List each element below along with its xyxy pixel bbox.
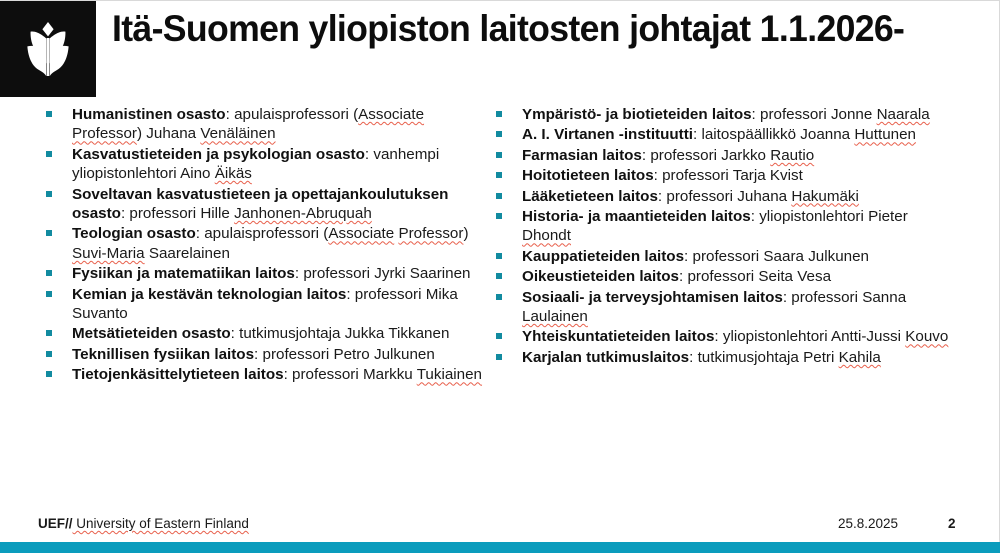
spellcheck-word: Associate bbox=[358, 106, 424, 123]
unit-name: Ympäristö- ja biotieteiden laitos bbox=[522, 106, 752, 123]
unit-name: Kauppatieteiden laitos bbox=[522, 248, 684, 265]
footer-page-number: 2 bbox=[948, 516, 956, 531]
bullet-square-icon bbox=[496, 213, 502, 219]
unit-director: : yliopistonlehtori Antti-Jussi Kouvo bbox=[714, 328, 948, 345]
spellcheck-word: Kahila bbox=[839, 349, 881, 366]
bullet-square-icon bbox=[46, 270, 52, 276]
bullet-square-icon bbox=[496, 294, 502, 300]
bullet-square-icon bbox=[496, 152, 502, 158]
list-item: Yhteiskuntatieteiden laitos: yliopistonl… bbox=[488, 327, 950, 346]
spellcheck-word: Professor bbox=[398, 225, 463, 242]
right-column: Ympäristö- ja biotieteiden laitos: profe… bbox=[488, 105, 950, 368]
unit-name: Teologian osasto bbox=[72, 225, 196, 242]
list-item: Fysiikan ja matematiikan laitos: profess… bbox=[38, 264, 490, 283]
bullet-square-icon bbox=[496, 253, 502, 259]
list-item: Teologian osasto: apulaisprofessori (Ass… bbox=[38, 224, 490, 263]
list-item: Metsätieteiden osasto: tutkimusjohtaja J… bbox=[38, 324, 490, 343]
list-item: Ympäristö- ja biotieteiden laitos: profe… bbox=[488, 105, 950, 124]
bullet-square-icon bbox=[46, 151, 52, 157]
unit-director: : professori Tarja Kvist bbox=[654, 167, 803, 184]
spellcheck-word: Hakumäki bbox=[791, 188, 859, 205]
bullet-square-icon bbox=[46, 371, 52, 377]
bullet-square-icon bbox=[496, 354, 502, 360]
unit-director: : professori Jyrki Saarinen bbox=[295, 265, 471, 282]
list-item: Oikeustieteiden laitos: professori Seita… bbox=[488, 267, 950, 286]
unit-name: Karjalan tutkimuslaitos bbox=[522, 349, 689, 366]
uef-logo-block bbox=[0, 1, 96, 97]
spellcheck-word: Associate bbox=[328, 225, 394, 242]
left-column: Humanistinen osasto: apulaisprofessori (… bbox=[38, 105, 490, 386]
spellcheck-word: Professor bbox=[72, 125, 137, 142]
unit-name: Kasvatustieteiden ja psykologian osasto bbox=[72, 146, 365, 163]
unit-name: Sosiaali- ja terveysjohtamisen laitos bbox=[522, 289, 783, 306]
unit-director: : tutkimusjohtaja Petri Kahila bbox=[689, 349, 881, 366]
list-item: Historia- ja maantieteiden laitos: yliop… bbox=[488, 207, 950, 246]
bullet-square-icon bbox=[46, 111, 52, 117]
uef-tree-book-logo-icon bbox=[24, 22, 72, 76]
bullet-square-icon bbox=[496, 333, 502, 339]
unit-name: Humanistinen osasto bbox=[72, 106, 226, 123]
unit-director: : tutkimusjohtaja Jukka Tikkanen bbox=[231, 325, 450, 342]
spellcheck-word: Dhondt bbox=[522, 227, 571, 244]
bullet-square-icon bbox=[496, 273, 502, 279]
bullet-square-icon bbox=[496, 131, 502, 137]
spellcheck-word: Naarala bbox=[877, 106, 930, 123]
list-item: Hoitotieteen laitos: professori Tarja Kv… bbox=[488, 166, 950, 185]
list-item: Sosiaali- ja terveysjohtamisen laitos: p… bbox=[488, 288, 950, 327]
bullet-square-icon bbox=[46, 230, 52, 236]
list-item: Tietojenkäsittelytieteen laitos: profess… bbox=[38, 365, 490, 384]
unit-name: Metsätieteiden osasto bbox=[72, 325, 231, 342]
spellcheck-word: Venäläinen bbox=[200, 125, 275, 142]
unit-name: Yhteiskuntatieteiden laitos bbox=[522, 328, 714, 345]
unit-name: Farmasian laitos bbox=[522, 147, 642, 164]
unit-director: : professori Seita Vesa bbox=[679, 268, 831, 285]
unit-name: Tietojenkäsittelytieteen laitos bbox=[72, 366, 284, 383]
right-bullet-list: Ympäristö- ja biotieteiden laitos: profe… bbox=[488, 105, 950, 367]
bullet-square-icon bbox=[46, 191, 52, 197]
list-item: Kasvatustieteiden ja psykologian osasto:… bbox=[38, 145, 490, 184]
unit-director: : professori Juhana Hakumäki bbox=[658, 188, 859, 205]
left-bullet-list: Humanistinen osasto: apulaisprofessori (… bbox=[38, 105, 490, 385]
unit-name: Hoitotieteen laitos bbox=[522, 167, 654, 184]
footer-brand-name: University of Eastern Finland bbox=[73, 516, 249, 531]
list-item: A. I. Virtanen -instituutti: laitospääll… bbox=[488, 125, 950, 144]
unit-name: Kemian ja kestävän teknologian laitos bbox=[72, 286, 346, 303]
unit-name: Oikeustieteiden laitos bbox=[522, 268, 679, 285]
list-item: Teknillisen fysiikan laitos: professori … bbox=[38, 345, 490, 364]
slide-header: Itä-Suomen yliopiston laitosten johtajat… bbox=[0, 1, 1000, 97]
bullet-square-icon bbox=[496, 193, 502, 199]
bullet-square-icon bbox=[46, 291, 52, 297]
spellcheck-word: Janhonen-Abruquah bbox=[234, 205, 372, 222]
spellcheck-word: Suvi-Maria bbox=[72, 245, 145, 262]
slide-content: Humanistinen osasto: apulaisprofessori (… bbox=[0, 105, 1000, 495]
unit-director: : professori Markku Tukiainen bbox=[284, 366, 482, 383]
list-item: Farmasian laitos: professori Jarkko Raut… bbox=[488, 146, 950, 165]
bullet-square-icon bbox=[496, 172, 502, 178]
bullet-square-icon bbox=[496, 111, 502, 117]
unit-director: : professori Jonne Naarala bbox=[752, 106, 930, 123]
spellcheck-word: Laulainen bbox=[522, 308, 588, 325]
unit-name: Historia- ja maantieteiden laitos bbox=[522, 208, 751, 225]
unit-name: Teknillisen fysiikan laitos bbox=[72, 346, 254, 363]
list-item: Humanistinen osasto: apulaisprofessori (… bbox=[38, 105, 490, 144]
spellcheck-word: Huttunen bbox=[854, 126, 916, 143]
unit-director: : laitospäällikkö Joanna Huttunen bbox=[693, 126, 916, 143]
unit-name: Fysiikan ja matematiikan laitos bbox=[72, 265, 295, 282]
footer-brand-uef: UEF// bbox=[38, 516, 73, 531]
unit-director: : professori Petro Julkunen bbox=[254, 346, 435, 363]
bullet-square-icon bbox=[46, 330, 52, 336]
unit-director: : professori Saara Julkunen bbox=[684, 248, 869, 265]
list-item: Lääketieteen laitos: professori Juhana H… bbox=[488, 187, 950, 206]
spellcheck-word: Rautio bbox=[770, 147, 814, 164]
spellcheck-word: Äikäs bbox=[215, 165, 252, 182]
accent-bottom-bar bbox=[0, 542, 1000, 553]
list-item: Kauppatieteiden laitos: professori Saara… bbox=[488, 247, 950, 266]
list-item: Karjalan tutkimuslaitos: tutkimusjohtaja… bbox=[488, 348, 950, 367]
footer-brand: UEF// University of Eastern Finland bbox=[38, 516, 249, 531]
unit-name: Lääketieteen laitos bbox=[522, 188, 658, 205]
spellcheck-word: Kouvo bbox=[905, 328, 948, 345]
list-item: Kemian ja kestävän teknologian laitos: p… bbox=[38, 285, 490, 324]
bullet-square-icon bbox=[46, 351, 52, 357]
unit-name: A. I. Virtanen -instituutti bbox=[522, 126, 693, 143]
spellcheck-word: Tukiainen bbox=[417, 366, 482, 383]
slide-footer: UEF// University of Eastern Finland 25.8… bbox=[0, 514, 1000, 540]
unit-director: : professori Jarkko Rautio bbox=[642, 147, 814, 164]
unit-director: : professori Hille Janhonen-Abruquah bbox=[121, 205, 372, 222]
footer-date: 25.8.2025 bbox=[838, 516, 898, 531]
list-item: Soveltavan kasvatustieteen ja opettajank… bbox=[38, 185, 490, 224]
page-title: Itä-Suomen yliopiston laitosten johtajat… bbox=[112, 1, 939, 97]
